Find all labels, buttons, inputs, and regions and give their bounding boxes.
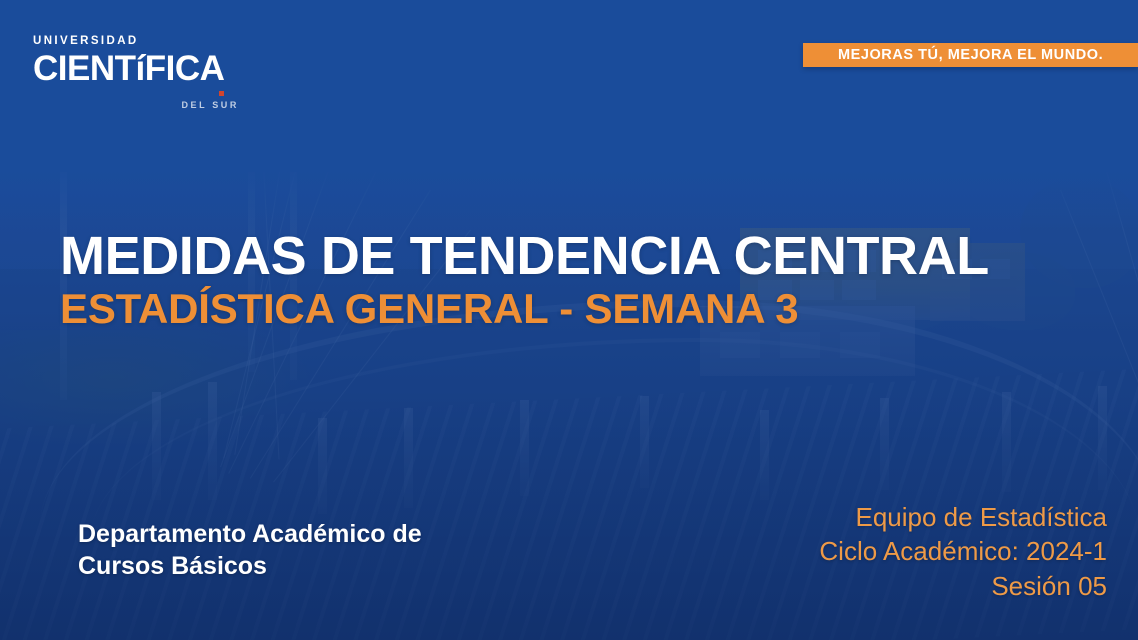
- logo-line-del-sur: DEL SUR: [181, 101, 239, 110]
- title-slide: UNIVERSIDAD CIENTíFICA DEL SUR MEJORAS T…: [0, 0, 1138, 640]
- logo-accent-dot: [219, 91, 224, 96]
- tagline-banner: MEJORAS TÚ, MEJORA EL MUNDO.: [803, 43, 1138, 67]
- title-block: MEDIDAS DE TENDENCIA CENTRAL ESTADÍSTICA…: [60, 228, 989, 332]
- blue-overlay-fade: [0, 160, 1138, 230]
- tagline-text: MEJORAS TÚ, MEJORA EL MUNDO.: [803, 47, 1103, 63]
- university-logo: UNIVERSIDAD CIENTíFICA DEL SUR: [33, 36, 233, 96]
- department-line-2: Cursos Básicos: [78, 550, 422, 582]
- department-block: Departamento Académico de Cursos Básicos: [78, 518, 422, 582]
- page-title: MEDIDAS DE TENDENCIA CENTRAL: [60, 228, 989, 284]
- course-meta-block: Equipo de Estadística Ciclo Académico: 2…: [819, 500, 1107, 603]
- meta-team: Equipo de Estadística: [819, 500, 1107, 534]
- logo-wordmark: CIENTíFICA: [33, 49, 224, 88]
- page-subtitle: ESTADÍSTICA GENERAL - SEMANA 3: [60, 287, 989, 332]
- meta-session: Sesión 05: [819, 569, 1107, 603]
- meta-cycle: Ciclo Académico: 2024-1: [819, 534, 1107, 568]
- logo-line-cientifica: CIENTíFICA DEL SUR: [33, 51, 233, 86]
- logo-line-universidad: UNIVERSIDAD: [33, 36, 233, 48]
- department-line-1: Departamento Académico de: [78, 518, 422, 550]
